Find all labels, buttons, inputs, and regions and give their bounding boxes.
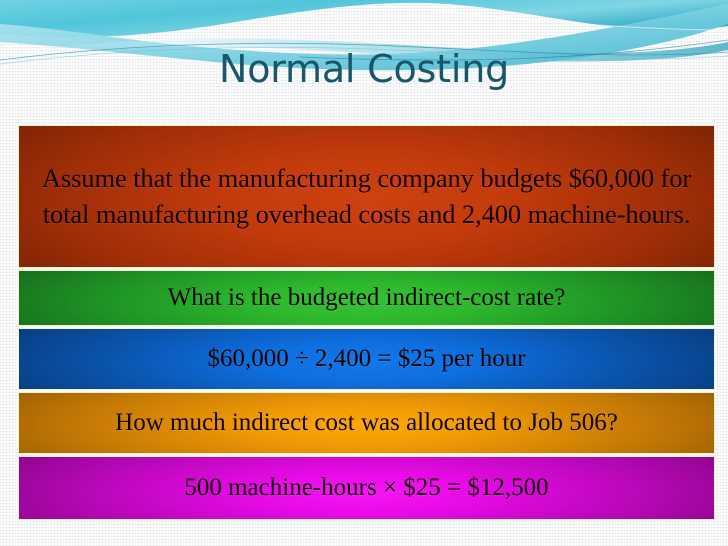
content-block-assumption-text: Assume that the manufacturing company bu…: [19, 161, 714, 231]
content-block-answer-allocated-text: 500 machine-hours × $25 = $12,500: [19, 474, 714, 502]
content-block-question-allocated: How much indirect cost was allocated to …: [18, 392, 715, 454]
slide-canvas: Normal Costing Assume that the manufactu…: [0, 0, 728, 546]
content-block-question-allocated-text: How much indirect cost was allocated to …: [19, 409, 714, 437]
content-block-answer-rate-text: $60,000 ÷ 2,400 = $25 per hour: [19, 345, 714, 373]
content-block-question-rate-text: What is the budgeted indirect-cost rate?: [19, 284, 714, 312]
content-block-question-rate: What is the budgeted indirect-cost rate?: [18, 270, 715, 326]
page-title: Normal Costing: [0, 47, 728, 91]
content-block-answer-rate: $60,000 ÷ 2,400 = $25 per hour: [18, 328, 715, 390]
content-block-answer-allocated: 500 machine-hours × $25 = $12,500: [18, 456, 715, 520]
content-block-assumption: Assume that the manufacturing company bu…: [18, 125, 715, 268]
